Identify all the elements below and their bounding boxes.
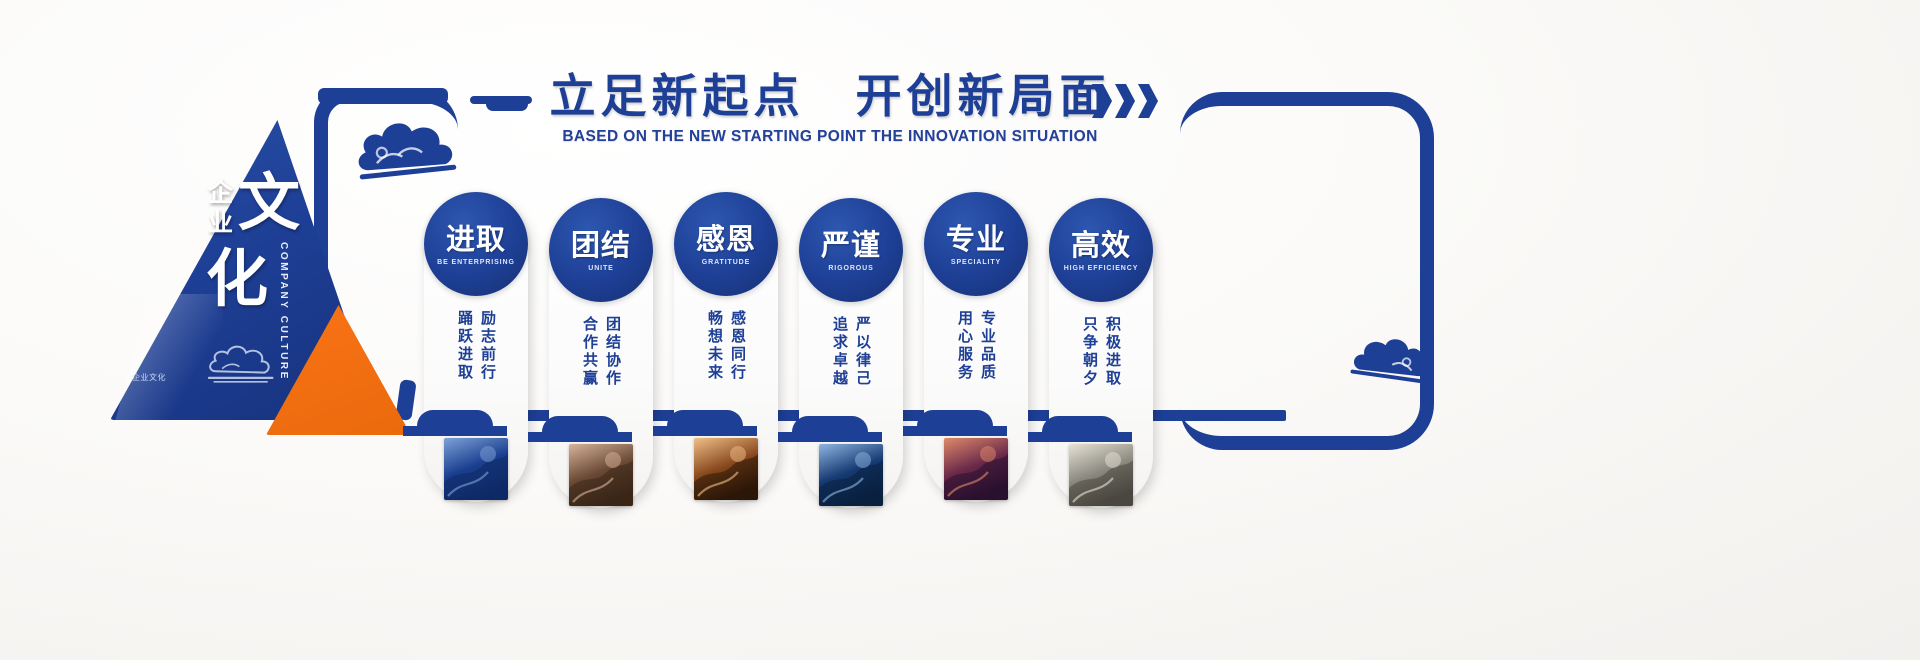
chevron-2: [1115, 84, 1135, 118]
auspicious-cloud-icon-logo: [205, 338, 275, 384]
slogan-column-2: 合作共赢: [581, 316, 598, 416]
slogan-column-2: 只争朝夕: [1081, 316, 1098, 416]
culture-wall: 企业 文 化 COMPANY CULTURE 企业文化 立足新起点 开创新局面 …: [0, 0, 1920, 660]
value-chinese: 严谨: [821, 229, 881, 261]
mountain-divider-icon: [528, 416, 632, 442]
logo-char-hua: 化: [206, 248, 268, 310]
value-slogan: 感恩同行 畅想未来: [674, 310, 778, 410]
value-chinese: 专业: [946, 223, 1006, 255]
value-chinese: 高效: [1071, 229, 1131, 261]
value-english: BE ENTERPRISING: [437, 259, 515, 266]
value-english: GRATITUDE: [702, 259, 750, 266]
mountain-divider-icon: [903, 410, 1007, 436]
value-slogan: 励志前行 踊跃进取: [424, 310, 528, 410]
value-pill-high-efficiency[interactable]: 高效 HIGH EFFICIENCY 积极进取 只争朝夕: [1049, 198, 1153, 508]
slogan-column-1: 团结协作: [604, 316, 621, 416]
value-english: SPECIALITY: [951, 259, 1001, 266]
auspicious-cloud-icon-right: [1341, 324, 1435, 398]
slogan-column-1: 专业品质: [979, 310, 996, 410]
logo-corner-badge: 企业文化: [132, 372, 166, 383]
chevron-right-icon: [1092, 84, 1158, 118]
slogan-column-2: 追求卓越: [831, 316, 848, 416]
pocket-watch-photo: [1069, 444, 1133, 506]
slogan-column-1: 积极进取: [1104, 316, 1121, 416]
mountain-divider-icon: [653, 410, 757, 436]
slogan-column-1: 感恩同行: [729, 310, 746, 410]
slogan-column-2: 踊跃进取: [456, 310, 473, 410]
value-circle: 高效 HIGH EFFICIENCY: [1049, 198, 1153, 302]
value-english: UNITE: [588, 265, 614, 272]
handshake-photo: [569, 444, 633, 506]
value-pill-rigorous[interactable]: 严谨 RIGOROUS 严以律己 追求卓越: [799, 198, 903, 508]
value-chinese: 进取: [446, 223, 506, 255]
value-pill-unite[interactable]: 团结 UNITE 团结协作 合作共赢: [549, 198, 653, 508]
value-slogan: 团结协作 合作共赢: [549, 316, 653, 416]
value-circle: 感恩 GRATITUDE: [674, 192, 778, 296]
slogan-column-1: 励志前行: [479, 310, 496, 410]
value-circle: 专业 SPECIALITY: [924, 192, 1028, 296]
logo-char-wen: 文: [238, 172, 300, 234]
value-circle: 严谨 RIGOROUS: [799, 198, 903, 302]
headline-chinese: 立足新起点 开创新局面: [540, 68, 1120, 124]
mountain-divider-icon: [1028, 416, 1132, 442]
eagle-photo: [819, 444, 883, 506]
value-pill-speciality[interactable]: 专业 SPECIALITY 专业品质 用心服务: [924, 192, 1028, 502]
value-english: RIGOROUS: [828, 265, 873, 272]
headline-english: BASED ON THE NEW STARTING POINT THE INNO…: [540, 128, 1120, 146]
value-pill-be-enterprising[interactable]: 进取 BE ENTERPRISING 励志前行 踊跃进取: [424, 192, 528, 502]
value-circle: 进取 BE ENTERPRISING: [424, 192, 528, 296]
headline-block: 立足新起点 开创新局面 BASED ON THE NEW STARTING PO…: [540, 68, 1120, 146]
chevron-3: [1138, 84, 1158, 118]
frame-hook-tail: [486, 104, 528, 111]
frame-right-arc: [1180, 92, 1434, 450]
frame-hook: [470, 96, 532, 104]
value-chinese: 团结: [571, 229, 631, 261]
mountain-divider-icon: [778, 416, 882, 442]
slogan-column-2: 畅想未来: [706, 310, 723, 410]
value-chinese: 感恩: [696, 223, 756, 255]
value-pill-row: 进取 BE ENTERPRISING 励志前行 踊跃进取 团结 UNITE 团结…: [424, 192, 1153, 508]
sunrise-people-photo: [694, 438, 758, 500]
value-pill-gratitude[interactable]: 感恩 GRATITUDE 感恩同行 畅想未来: [674, 192, 778, 502]
value-circle: 团结 UNITE: [549, 198, 653, 302]
value-slogan: 专业品质 用心服务: [924, 310, 1028, 410]
chevron-1: [1092, 84, 1112, 118]
slogan-column-2: 用心服务: [956, 310, 973, 410]
value-slogan: 严以律己 追求卓越: [799, 316, 903, 416]
logo-small-label: 企业: [208, 178, 234, 238]
runner-photo: [944, 438, 1008, 500]
value-english: HIGH EFFICIENCY: [1064, 265, 1139, 272]
ink-brush-photo: [444, 438, 508, 500]
logo-english-label: COMPANY CULTURE: [278, 242, 289, 381]
mountain-divider-icon: [403, 410, 507, 436]
value-slogan: 积极进取 只争朝夕: [1049, 316, 1153, 416]
slogan-column-1: 严以律己: [854, 316, 871, 416]
